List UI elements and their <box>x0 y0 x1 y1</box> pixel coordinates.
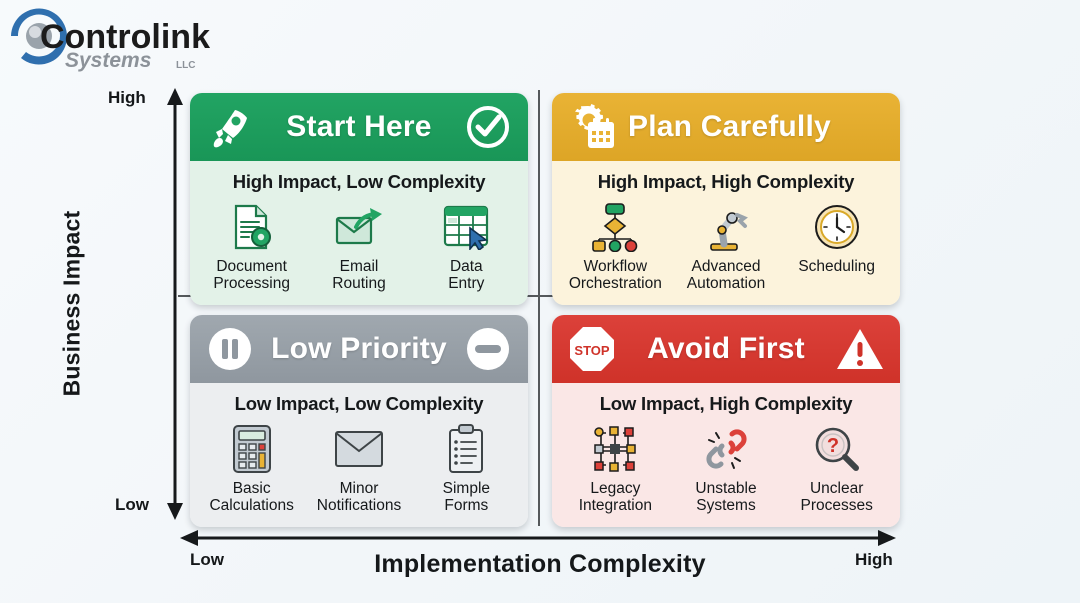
item-label-line1: Minor <box>340 480 379 497</box>
quadrant-header: Start Here <box>190 93 528 161</box>
item-label-line2: Forms <box>444 497 488 514</box>
magnifier-question-icon: ? <box>781 423 892 475</box>
quadrant-subtitle: Low Impact, High Complexity <box>560 393 892 415</box>
item-label-line2: Processes <box>800 497 872 514</box>
item-label-line1: Email <box>340 258 379 275</box>
envelope-icon <box>305 423 412 475</box>
list-item[interactable]: Minor Notifications <box>305 423 412 515</box>
item-label-line1: Data <box>450 258 483 275</box>
svg-text:?: ? <box>827 435 839 457</box>
gear-calendar-icon <box>566 101 618 153</box>
clipboard-icon <box>413 423 520 475</box>
item-label-line1: Legacy <box>590 480 640 497</box>
minus-circle-icon <box>462 323 514 375</box>
clock-icon <box>781 201 892 253</box>
x-axis-low-label: Low <box>190 550 224 570</box>
list-item[interactable]: Email Routing <box>305 201 412 293</box>
x-axis-high-label: High <box>855 550 893 570</box>
quadrant-items: Document Processing Email <box>198 201 520 293</box>
quadrant-title: Start Here <box>266 110 452 144</box>
quadrant-subtitle: High Impact, High Complexity <box>560 171 892 193</box>
quadrant-divider-vertical <box>538 90 540 526</box>
item-label-line1: Unclear <box>810 480 863 497</box>
item-label-line2: Routing <box>332 275 385 292</box>
company-logo: Controlink Systems LLC <box>10 6 210 72</box>
list-item[interactable]: Unstable Systems <box>671 423 782 515</box>
item-label-line1: Workflow <box>584 258 647 275</box>
quadrant-items: Basic Calculations Minor Notifications <box>198 423 520 515</box>
item-label-line1: Unstable <box>695 480 756 497</box>
item-label-line1: Document <box>216 258 287 275</box>
item-label-line2: Orchestration <box>569 275 662 292</box>
quadrant-card-avoid-first[interactable]: STOP Avoid First Low Impact, High Comple… <box>552 315 900 527</box>
quadrant-header: Low Priority <box>190 315 528 383</box>
x-axis-title: Implementation Complexity <box>250 550 830 579</box>
check-circle-icon <box>462 101 514 153</box>
quadrant-items: Workflow Orchestration <box>560 201 892 293</box>
quadrant-body: Low Impact, Low Complexity <box>190 383 528 527</box>
quadrant-header: Plan Carefully <box>552 93 900 161</box>
document-gear-icon <box>198 201 305 253</box>
y-axis-arrow <box>166 88 184 520</box>
broken-chain-icon <box>671 423 782 475</box>
rocket-icon <box>204 101 256 153</box>
item-label-line2: Entry <box>448 275 484 292</box>
warning-triangle-icon <box>834 323 886 375</box>
list-item[interactable]: Workflow Orchestration <box>560 201 671 293</box>
item-label-line1: Basic <box>233 480 271 497</box>
quadrant-subtitle: Low Impact, Low Complexity <box>198 393 520 415</box>
quadrant-title: Avoid First <box>628 332 824 366</box>
y-axis-title: Business Impact <box>59 189 86 419</box>
quadrant-body: High Impact, High Complexity <box>552 161 900 305</box>
list-item[interactable]: Document Processing <box>198 201 305 293</box>
stop-sign-icon: STOP <box>566 323 618 375</box>
quadrant-title: Plan Carefully <box>628 110 831 144</box>
flowchart-icon <box>560 201 671 253</box>
svg-text:LLC: LLC <box>176 60 195 71</box>
header-spacer <box>841 104 887 150</box>
robot-arm-icon <box>671 201 782 253</box>
quadrant-body: High Impact, Low Complexity <box>190 161 528 305</box>
list-item[interactable]: ? Unclear Processes <box>781 423 892 515</box>
quadrant-card-start-here[interactable]: Start Here High Impact, Low Complexity <box>190 93 528 305</box>
item-label-line2: Notifications <box>317 497 401 514</box>
item-label-line2: Systems <box>696 497 755 514</box>
y-axis-low-label: Low <box>115 495 149 515</box>
list-item[interactable]: Scheduling <box>781 201 892 275</box>
matrix-canvas: Controlink Systems LLC Business Impact I… <box>0 0 1080 603</box>
quadrant-card-low-priority[interactable]: Low Priority Low Impact, Low Complexity <box>190 315 528 527</box>
quadrant-subtitle: High Impact, Low Complexity <box>198 171 520 193</box>
item-label-line2: Integration <box>579 497 652 514</box>
list-item[interactable]: Advanced Automation <box>671 201 782 293</box>
item-label-line2: Processing <box>213 275 290 292</box>
list-item[interactable]: Simple Forms <box>413 423 520 515</box>
svg-text:Systems: Systems <box>65 49 151 72</box>
x-axis-arrow <box>180 528 896 548</box>
quadrant-title: Low Priority <box>266 332 452 366</box>
svg-text:STOP: STOP <box>574 343 609 358</box>
calculator-icon <box>198 423 305 475</box>
logo-graphic: Controlink Systems LLC <box>10 6 210 72</box>
item-label-line2: Automation <box>687 275 765 292</box>
item-label-line2: Calculations <box>209 497 293 514</box>
quadrant-body: Low Impact, High Complexity <box>552 383 900 527</box>
item-label-line1: Simple <box>443 480 490 497</box>
list-item[interactable]: Legacy Integration <box>560 423 671 515</box>
item-label-line1: Scheduling <box>798 258 875 275</box>
quadrant-header: STOP Avoid First <box>552 315 900 383</box>
item-label-line1: Advanced <box>692 258 761 275</box>
legacy-network-icon <box>560 423 671 475</box>
list-item[interactable]: Data Entry <box>413 201 520 293</box>
y-axis-high-label: High <box>108 88 146 108</box>
quadrant-card-plan-carefully[interactable]: Plan Carefully High Impact, High Complex… <box>552 93 900 305</box>
email-forward-icon <box>305 201 412 253</box>
pause-circle-icon <box>204 323 256 375</box>
list-item[interactable]: Basic Calculations <box>198 423 305 515</box>
spreadsheet-cursor-icon <box>413 201 520 253</box>
quadrant-items: Legacy Integration <box>560 423 892 515</box>
